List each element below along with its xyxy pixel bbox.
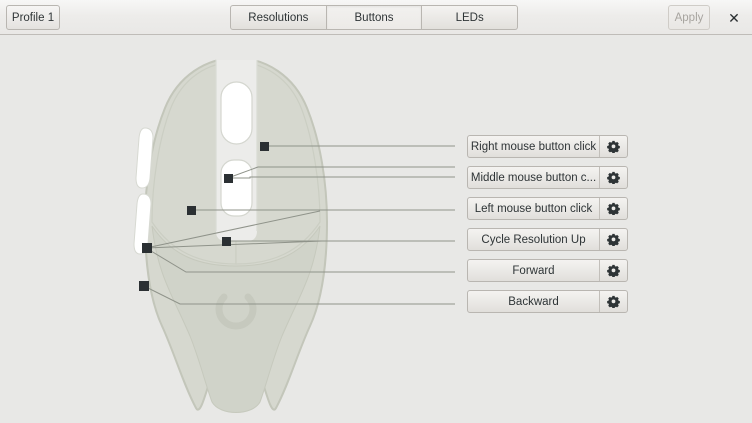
button-assignment-row-right-click[interactable]: Right mouse button click <box>467 135 628 158</box>
assignment-label: Cycle Resolution Up <box>468 229 599 250</box>
profile-button[interactable]: Profile 1 <box>6 5 60 30</box>
scroll-wheel[interactable] <box>221 82 252 144</box>
button-assignment-list: Right mouse button click Middle mouse bu… <box>467 135 628 321</box>
mouse-body-group <box>134 51 327 413</box>
marker-forward[interactable] <box>142 243 152 253</box>
assignment-label: Right mouse button click <box>468 136 599 157</box>
close-icon[interactable]: ✕ <box>721 5 747 30</box>
button-assignment-row-middle-click[interactable]: Middle mouse button c... <box>467 166 628 189</box>
gear-icon[interactable] <box>599 229 627 250</box>
marker-left-click[interactable] <box>187 206 196 215</box>
tab-leds[interactable]: LEDs <box>422 5 518 30</box>
mouse-diagram <box>0 36 752 423</box>
button-assignment-row-forward[interactable]: Forward <box>467 259 628 282</box>
button-assignment-row-cycle-resolution-up[interactable]: Cycle Resolution Up <box>467 228 628 251</box>
assignment-label: Left mouse button click <box>468 198 599 219</box>
marker-middle-click[interactable] <box>224 174 233 183</box>
apply-button[interactable]: Apply <box>668 5 710 30</box>
assignment-label: Middle mouse button c... <box>468 167 599 188</box>
header-bar: Profile 1 Resolutions Buttons LEDs Apply… <box>0 0 752 35</box>
gear-icon[interactable] <box>599 291 627 312</box>
marker-cycle-resolution-up[interactable] <box>222 237 231 246</box>
top-notch <box>216 51 257 60</box>
marker-right-click[interactable] <box>260 142 269 151</box>
gear-icon[interactable] <box>599 136 627 157</box>
tab-buttons[interactable]: Buttons <box>327 5 423 30</box>
tab-resolutions[interactable]: Resolutions <box>230 5 327 30</box>
gear-icon[interactable] <box>599 167 627 188</box>
gear-icon[interactable] <box>599 198 627 219</box>
tab-group: Resolutions Buttons LEDs <box>230 5 518 30</box>
content-area: Right mouse button click Middle mouse bu… <box>0 36 752 423</box>
marker-backward[interactable] <box>139 281 149 291</box>
gear-icon[interactable] <box>599 260 627 281</box>
assignment-label: Forward <box>468 260 599 281</box>
button-assignment-row-backward[interactable]: Backward <box>467 290 628 313</box>
assignment-label: Backward <box>468 291 599 312</box>
dpi-button[interactable] <box>221 160 252 216</box>
button-assignment-row-left-click[interactable]: Left mouse button click <box>467 197 628 220</box>
